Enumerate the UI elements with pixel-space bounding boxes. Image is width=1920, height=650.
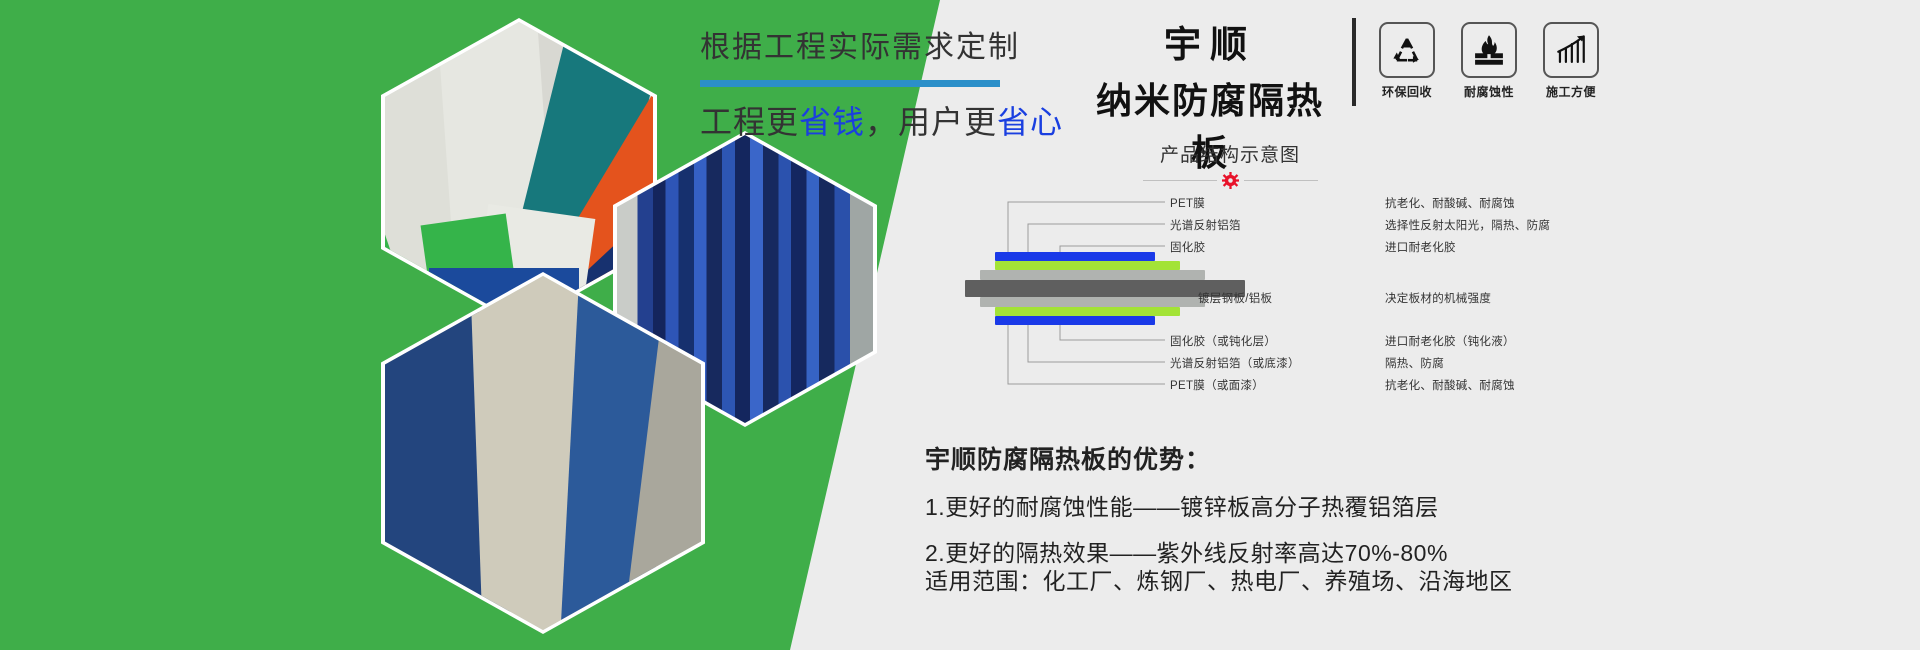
product-banner: 根据工程实际需求定制 工程更省钱，用户更省心 宇顺 纳米防腐隔热板 [0, 0, 1920, 650]
diagram-label-1: 光谱反射铝箔 [1170, 217, 1241, 233]
diagram-desc-1: 选择性反射太阳光，隔热、防腐 [1385, 217, 1550, 233]
application-scope: 适用范围：化工厂、炼钢厂、热电厂、养殖场、沿海地区 [925, 562, 1513, 596]
badge-recycle-label: 环保回收 [1378, 83, 1436, 100]
layer-pet-bottom [995, 316, 1155, 325]
diagram-title: 产品结构示意图 [1100, 140, 1360, 167]
diagram-label-2: 固化胶 [1170, 239, 1205, 255]
badge-installation: 施工方便 [1542, 22, 1600, 100]
diagram-desc-4: 进口耐老化胶（钝化液） [1385, 333, 1515, 349]
structure-diagram: PET膜 光谱反射铝箔 固化胶 镀层钢板/铝板 固化胶（或钝化层） 光谱反射铝箔… [965, 200, 1845, 430]
gear-icon [1222, 172, 1239, 189]
badge-recycle: 环保回收 [1378, 22, 1436, 100]
diagram-desc-6: 抗老化、耐酸碱、耐腐蚀 [1385, 377, 1515, 393]
ornament-line-left [1143, 180, 1217, 181]
advantages-title-colon: ： [1185, 446, 1211, 474]
advantage-item-1: 1.更好的耐腐蚀性能——镀锌板高分子热覆铝箔层 [925, 488, 1825, 522]
diagram-title-ornament [1100, 172, 1360, 189]
growth-chart-icon [1543, 22, 1599, 78]
headline-block: 根据工程实际需求定制 工程更省钱，用户更省心 [700, 22, 1000, 143]
diagram-label-0: PET膜 [1170, 195, 1205, 211]
diagram-label-6: PET膜（或面漆） [1170, 377, 1264, 393]
badge-corrosion-label: 耐腐蚀性 [1460, 83, 1518, 100]
badge-corrosion: 耐腐蚀性 [1460, 22, 1518, 100]
diagram-desc-0: 抗老化、耐酸碱、耐腐蚀 [1385, 195, 1515, 211]
brand-divider [1352, 18, 1356, 106]
diagram-label-3: 镀层钢板/铝板 [1198, 290, 1272, 306]
headline-line-2: 工程更省钱，用户更省心 [700, 97, 1000, 143]
headline-seg-b: 省钱 [799, 104, 865, 140]
diagram-desc-3: 决定板材的机械强度 [1385, 290, 1491, 306]
fire-bricks-icon [1461, 22, 1517, 78]
advantages-title-text: 宇顺防腐隔热板的优势 [925, 446, 1185, 474]
headline-seg-d: 省心 [997, 104, 1063, 140]
layer-foil-bottom [995, 307, 1180, 316]
brand-name: 宇顺 [1080, 14, 1340, 68]
diagram-label-4: 固化胶（或钝化层） [1170, 333, 1276, 349]
ornament-line-right [1244, 180, 1318, 181]
diagram-label-5: 光谱反射铝箔（或底漆） [1170, 355, 1300, 371]
layer-glue-bottom [980, 297, 1205, 307]
headline-seg-c: ，用户更 [865, 104, 997, 140]
layer-stack [995, 252, 1245, 326]
badge-installation-label: 施工方便 [1542, 83, 1600, 100]
layer-foil-top [995, 261, 1180, 270]
headline-line-1: 根据工程实际需求定制 [700, 22, 1000, 66]
advantages-block: 宇顺防腐隔热板的优势： 1.更好的耐腐蚀性能——镀锌板高分子热覆铝箔层 2.更好… [925, 440, 1825, 568]
diagram-desc-2: 进口耐老化胶 [1385, 239, 1456, 255]
diagram-desc-5: 隔热、防腐 [1385, 355, 1444, 371]
recycle-icon [1379, 22, 1435, 78]
feature-badges: 环保回收 耐腐蚀性 [1378, 22, 1600, 100]
layer-pet-top [995, 252, 1155, 261]
headline-rule [700, 80, 1000, 87]
headline-seg-a: 工程更 [700, 104, 799, 140]
advantages-title: 宇顺防腐隔热板的优势： [925, 440, 1825, 476]
layer-glue-top [980, 270, 1205, 280]
